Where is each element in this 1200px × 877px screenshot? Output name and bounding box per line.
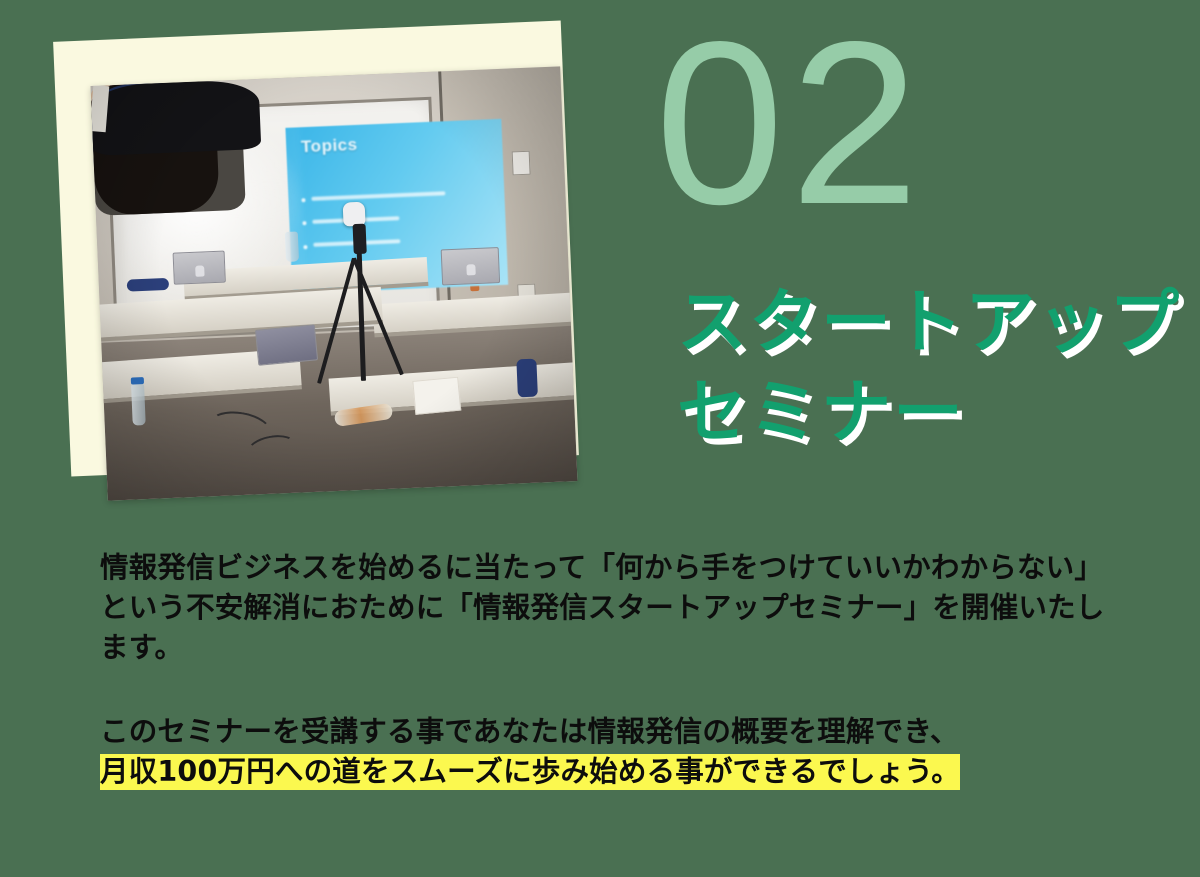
seminar-photo: Topics <box>91 66 578 500</box>
slide-title: Topics <box>301 135 358 157</box>
water-bottle <box>131 383 146 426</box>
paragraph-1-line-3: ます。 <box>100 628 1160 668</box>
chair-backrest <box>127 278 169 292</box>
paragraph-2-line-2: 月収100万円への道をスムーズに歩み始める事ができるでしょう。 <box>100 752 1160 792</box>
camera-icon <box>342 201 365 226</box>
paragraph-spacer <box>100 668 1160 712</box>
laptop-logo-icon <box>466 264 475 275</box>
attendee-laptop <box>255 324 318 365</box>
paragraph-1-line-1: 情報発信ビジネスを始めるに当たって「何から手をつけていいかわからない」 <box>100 548 1160 588</box>
wall-switch-icon <box>512 151 531 176</box>
attendee-front-torso <box>91 79 262 156</box>
section-body-copy: 情報発信ビジネスを始めるに当たって「何から手をつけていいかわからない」 という不… <box>100 548 1160 792</box>
presenter-laptop <box>441 248 500 286</box>
section-number: 02 <box>655 8 925 240</box>
seminar-photo-inner: Topics <box>91 66 578 500</box>
section-title-line-2: セミナー <box>677 368 1181 458</box>
paragraph-2-line-1: このセミナーを受講する事であなたは情報発信の概要を理解でき、 <box>100 712 1160 752</box>
laptop-logo-icon <box>195 265 204 276</box>
highlighted-text: 月収100万円への道をスムーズに歩み始める事ができるでしょう。 <box>100 754 960 790</box>
section-heading-block: 02 スタートアップ セミナー <box>655 0 1200 520</box>
slide-line-1 <box>312 191 446 201</box>
bottle-cap <box>131 377 144 385</box>
water-bottle-desk <box>285 231 299 262</box>
paragraph-1-line-2: という不安解消におために「情報発信スタートアップセミナー」を開催いたし <box>100 588 1160 628</box>
tripod-head <box>353 224 367 255</box>
chair-right <box>516 358 538 397</box>
handout-paper <box>412 377 461 415</box>
photo-block: Topics <box>0 0 640 520</box>
section-title: スタートアップ セミナー <box>677 278 1181 457</box>
seminar-section: Topics <box>0 0 1200 877</box>
section-title-line-1: スタートアップ <box>677 278 1181 368</box>
back-laptop <box>173 251 226 285</box>
